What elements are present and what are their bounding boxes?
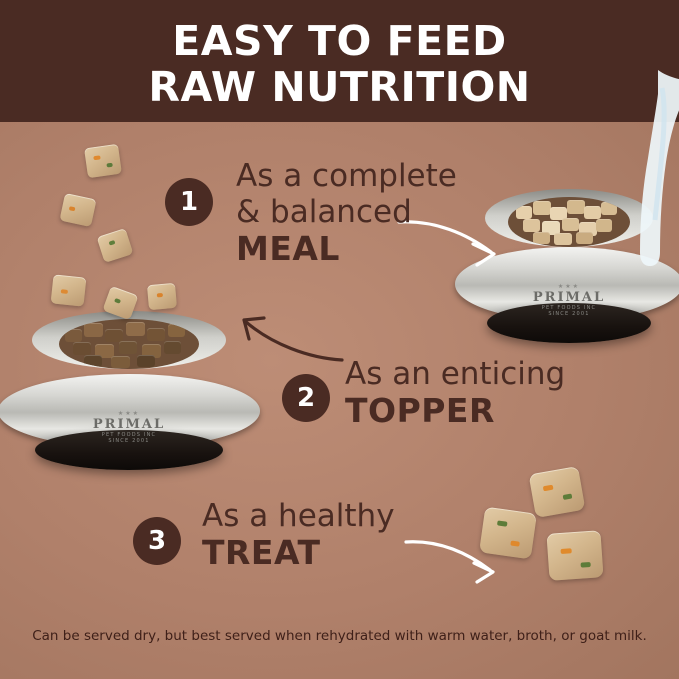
bowl-with-kibble-left: ★★★ PRIMAL PET FOODS INC SINCE 2001 [0,305,260,470]
kibble-piece [479,507,537,560]
kibble-piece [147,283,177,310]
step-3-line-1: As a healthy [202,498,395,534]
kibble-piece [51,274,87,306]
water-pour [600,70,679,270]
step-2-line-2: TOPPER [345,392,565,430]
step-3-line-2: TREAT [202,534,395,572]
step-1-line-1b: & balanced [236,194,457,230]
step-1-line-2: MEAL [236,230,457,268]
infographic-root: EASY TO FEED RAW NUTRITION [0,0,679,679]
logo-stars: ★★★ [523,283,615,290]
step-3-text: As a healthy TREAT [202,498,395,572]
step-2-line-1: As an enticing [345,356,565,392]
bowl-logo-top: ★★★ PRIMAL PET FOODS INC SINCE 2001 [523,283,615,317]
bowl-logo-left: ★★★ PRIMAL PET FOODS INC SINCE 2001 [83,410,175,444]
kibble-piece [546,530,603,581]
step-number-1: 1 [165,178,213,226]
page-title: EASY TO FEED RAW NUTRITION [0,18,679,110]
title-line-2: RAW NUTRITION [0,64,679,110]
kibble-piece [529,466,586,518]
bowl-inner [32,311,226,369]
logo-brand-sub2: SINCE 2001 [523,311,615,317]
footer-note: Can be served dry, but best served when … [0,628,679,644]
step-1-line-1: As a complete [236,158,457,194]
logo-brand-name: PRIMAL [83,417,175,432]
step-2-text: As an enticing TOPPER [345,356,565,430]
logo-brand-name: PRIMAL [523,290,615,305]
step-number-3: 3 [133,517,181,565]
step-1-text: As a complete & balanced MEAL [236,158,457,268]
logo-stars: ★★★ [83,410,175,417]
step-number-2: 2 [282,374,330,422]
logo-brand-sub2: SINCE 2001 [83,438,175,444]
title-line-1: EASY TO FEED [172,17,506,65]
kibble-piece [84,144,122,178]
bowl-food-left [59,319,199,369]
